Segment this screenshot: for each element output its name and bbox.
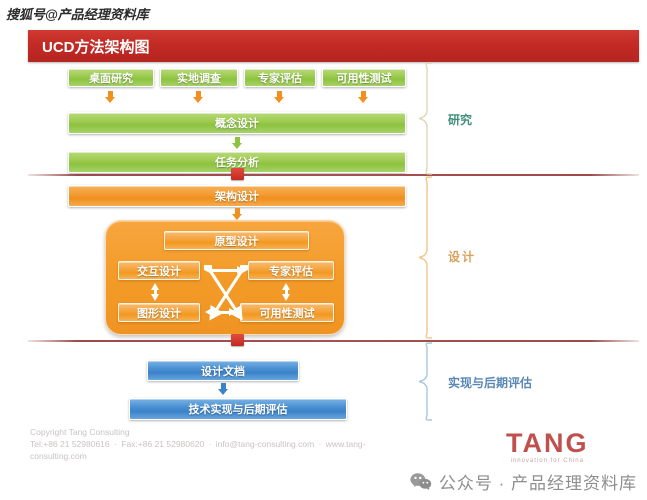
footer-copyright: Copyright Tang Consulting xyxy=(30,426,390,438)
arrow-desk-research-down xyxy=(105,91,116,103)
bottom-watermark: 公众号 · 产品经理资料库 xyxy=(410,469,637,494)
arrow-expert-usability xyxy=(282,283,291,301)
node-architecture-design[interactable]: 架构设计 xyxy=(68,185,406,207)
node-field-study[interactable]: 实地调查 xyxy=(160,68,238,87)
divider-design-implement xyxy=(28,340,639,342)
arrow-field-study-down xyxy=(193,91,204,103)
slide-canvas: UCD方法架构图 桌面研究 实地调查 专家评估 可用性测试 概念设计 任务分析 … xyxy=(28,30,639,482)
arrow-architecture-to-prototype xyxy=(232,208,243,220)
node-graphic-design[interactable]: 图形设计 xyxy=(118,303,200,322)
top-watermark: 搜狐号@产品经理资料库 xyxy=(6,4,149,23)
arrow-doc-to-tech xyxy=(218,383,229,395)
footer-email[interactable]: info@tang-consulting.com xyxy=(216,439,314,449)
brace-research xyxy=(418,62,442,175)
arrow-cross-x xyxy=(204,265,248,325)
node-prototype-design[interactable]: 原型设计 xyxy=(164,231,309,250)
wechat-icon xyxy=(410,472,432,491)
footer-tel: Tel:+86 21 52980616 xyxy=(30,439,110,449)
footer-contact-line: Tel:+86 21 52980616 · Fax:+86 21 5298062… xyxy=(30,438,390,462)
divider-research-design xyxy=(28,174,639,176)
footer-sep-2: · xyxy=(207,439,214,449)
footer-sep-3: · xyxy=(317,439,324,449)
brace-design xyxy=(418,176,442,339)
divider-marker-2 xyxy=(231,334,244,346)
footer-contact: Copyright Tang Consulting Tel:+86 21 529… xyxy=(30,426,390,462)
arrow-concept-to-task xyxy=(232,137,243,149)
brace-implement xyxy=(418,342,442,422)
node-interaction-design[interactable]: 交互设计 xyxy=(118,261,200,280)
arrow-usability-test-down xyxy=(358,91,369,103)
design-group-container: 原型设计 交互设计 专家评估 图形设计 可用性测试 xyxy=(105,220,345,335)
arrow-expert-review-down xyxy=(274,91,285,103)
node-design-document[interactable]: 设计文档 xyxy=(147,360,299,381)
slide-title-bar: UCD方法架构图 xyxy=(28,30,639,62)
node-concept-design[interactable]: 概念设计 xyxy=(68,112,406,134)
tang-logo-name: TANG xyxy=(506,430,589,457)
node-tech-implementation[interactable]: 技术实现与后期评估 xyxy=(129,398,347,420)
phase-label-research: 研究 xyxy=(448,111,472,128)
node-usability-test-top[interactable]: 可用性测试 xyxy=(322,68,406,87)
phase-label-design: 设计 xyxy=(448,248,476,265)
bottom-watermark-text: 公众号 · 产品经理资料库 xyxy=(439,469,637,494)
arrow-interaction-graphic xyxy=(151,283,160,301)
footer-sep-1: · xyxy=(112,439,119,449)
node-expert-review-design[interactable]: 专家评估 xyxy=(248,261,334,280)
node-desk-research[interactable]: 桌面研究 xyxy=(68,68,154,87)
phase-label-implement: 实现与后期评估 xyxy=(448,374,532,391)
tang-logo: TANG innovation for China xyxy=(506,430,589,464)
node-expert-review-top[interactable]: 专家评估 xyxy=(244,68,316,87)
page-title: UCD方法架构图 xyxy=(42,36,150,57)
divider-marker-1 xyxy=(231,168,244,180)
footer-fax: Fax:+86 21 52980620 xyxy=(121,439,204,449)
node-usability-test-design[interactable]: 可用性测试 xyxy=(240,303,334,322)
tang-logo-tagline: innovation for China xyxy=(506,458,589,464)
